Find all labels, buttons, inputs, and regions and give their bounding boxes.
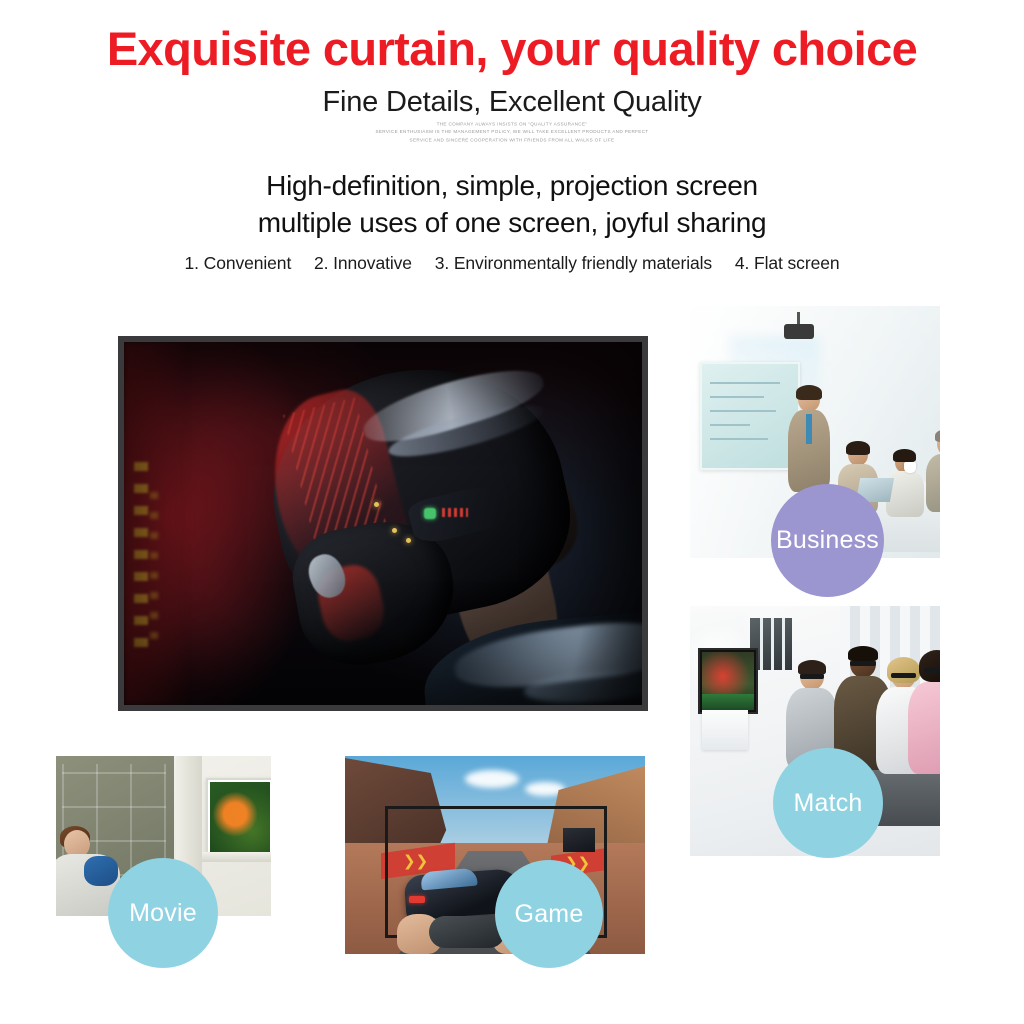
business-attendee-3 bbox=[926, 432, 940, 512]
hero-amber-dot-2 bbox=[406, 538, 411, 543]
movie-blue-pillow bbox=[84, 856, 118, 886]
match-tv-field bbox=[702, 694, 754, 710]
movie-screen-ledge bbox=[202, 852, 271, 862]
business-whiteboard bbox=[700, 362, 800, 470]
hero-amber-signage-secondary bbox=[150, 492, 158, 642]
description-line-2: multiple uses of one screen, joyful shar… bbox=[0, 205, 1024, 242]
game-cloud-1 bbox=[465, 770, 519, 788]
hero-red-readout bbox=[442, 508, 468, 517]
page-headline: Exquisite curtain, your quality choice bbox=[0, 24, 1024, 73]
feature-item-3: 3. Environmentally friendly materials bbox=[435, 253, 712, 273]
hero-amber-dot-3 bbox=[374, 502, 379, 507]
feature-item-4: 4. Flat screen bbox=[735, 253, 840, 273]
description-line-1: High-definition, simple, projection scre… bbox=[0, 168, 1024, 205]
fineprint-line-2: SERVICE ENTHUSIASM IS THE MANAGEMENT POL… bbox=[0, 129, 1024, 137]
hero-amber-dot-1 bbox=[392, 528, 397, 533]
movie-screen-nature-content bbox=[210, 782, 270, 852]
game-controller bbox=[429, 916, 505, 948]
hero-screen-surface bbox=[124, 342, 642, 705]
business-coffee-cup bbox=[904, 462, 916, 473]
feature-item-1: 1. Convenient bbox=[185, 253, 292, 273]
match-television bbox=[698, 648, 758, 714]
page-subtitle: Fine Details, Excellent Quality bbox=[0, 86, 1024, 119]
fineprint-line-3: SERVICE AND SINCERE COOPERATION WITH FRI… bbox=[0, 137, 1024, 145]
feature-item-2: 2. Innovative bbox=[314, 253, 412, 273]
fineprint-line-1: THE COMPANY ALWAYS INSISTS ON "QUALITY A… bbox=[0, 121, 1024, 129]
business-ceiling-projector bbox=[784, 324, 814, 339]
movie-wall-screen bbox=[206, 778, 271, 856]
hero-projection-screen bbox=[118, 336, 648, 711]
business-presenter bbox=[786, 388, 832, 492]
match-tv-stand bbox=[702, 710, 748, 750]
badge-business[interactable]: Business bbox=[771, 484, 884, 597]
fineprint-block: THE COMPANY ALWAYS INSISTS ON "QUALITY A… bbox=[0, 121, 1024, 145]
badge-match[interactable]: Match bbox=[773, 748, 883, 858]
hero-green-indicator bbox=[424, 508, 436, 519]
badge-movie[interactable]: Movie bbox=[108, 858, 218, 968]
product-description: High-definition, simple, projection scre… bbox=[0, 168, 1024, 242]
hero-amber-signage bbox=[134, 462, 148, 652]
match-viewer-4 bbox=[908, 656, 940, 774]
feature-list: 1. Convenient 2. Innovative 3. Environme… bbox=[0, 253, 1024, 274]
badge-game[interactable]: Game bbox=[495, 860, 603, 968]
